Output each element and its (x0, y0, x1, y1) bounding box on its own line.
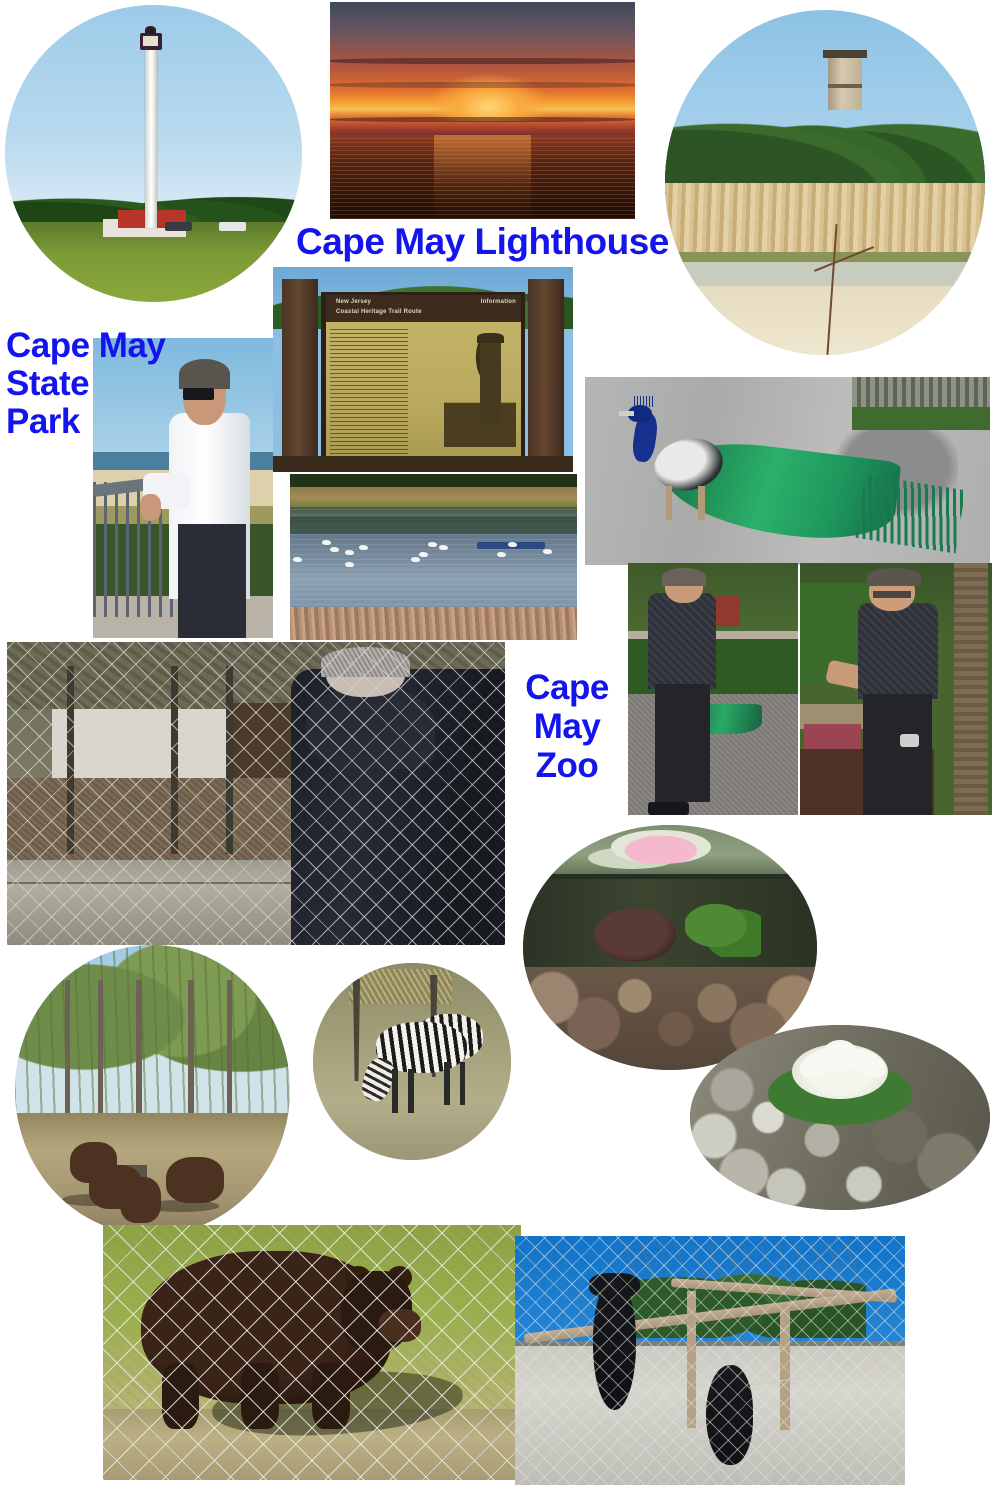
pink-lily-flower (611, 830, 711, 864)
sign-text-line1: New Jersey (336, 299, 371, 305)
swan (543, 549, 552, 554)
mesh-overlay (515, 1236, 905, 1485)
man-pointing-photo (800, 563, 992, 815)
zebra-leg (392, 1069, 398, 1112)
sun-glow (428, 74, 550, 122)
label-cape-may-state-park: Cape May State Park (6, 327, 165, 440)
swan (411, 557, 420, 562)
label-cape-may-lighthouse: Cape May Lighthouse (296, 222, 669, 262)
aquatic-plant (685, 894, 761, 958)
foreground-reeds (290, 607, 577, 640)
parked-car (219, 222, 246, 231)
heritage-trail-sign-photo: New Jersey Coastal Heritage Trail Route … (273, 267, 573, 472)
swan (345, 550, 354, 555)
swan (322, 540, 331, 545)
swan (359, 545, 368, 550)
cloud-band (330, 58, 635, 63)
zebra-leg (444, 1062, 450, 1105)
swan (345, 562, 354, 567)
lighthouse-tower (145, 44, 157, 228)
swan (497, 552, 506, 557)
bare-trees-layer (15, 945, 290, 1125)
bison (120, 1177, 161, 1223)
tree-trunk (136, 980, 142, 1131)
tree-trunk (65, 980, 71, 1131)
bison-herd-photo (15, 945, 290, 1235)
person-hand (140, 494, 162, 521)
sign-text-information: Information (481, 299, 516, 305)
cape-may-lighthouse-photo (5, 5, 302, 302)
tree-trunk (954, 563, 989, 815)
peacock-leg (698, 486, 704, 520)
gibbons-photo (515, 1236, 905, 1485)
sign-illustration-tower (480, 337, 501, 423)
peacock-leg (666, 486, 672, 520)
reed-band (290, 487, 577, 509)
peacock-beak (619, 411, 633, 417)
chain-link-mesh (103, 1225, 521, 1480)
sand-layer (665, 286, 985, 355)
person-shirt (858, 603, 939, 699)
tree-trunk (227, 980, 233, 1131)
water-lily-pond-photo (690, 1025, 990, 1210)
bison (166, 1157, 224, 1203)
man-watching-peacock-photo (628, 563, 798, 815)
person-hair (179, 359, 229, 389)
sun-reflection (434, 135, 532, 219)
swan (330, 547, 339, 552)
peacock-crest (634, 396, 654, 407)
person-pants (655, 684, 709, 802)
lighthouse-lens (143, 36, 158, 46)
swan (508, 542, 517, 547)
swan (419, 552, 428, 557)
weed-mat (290, 517, 577, 534)
zebra-leg (408, 1069, 414, 1112)
person-shirt (648, 593, 716, 689)
cloud-band (330, 82, 635, 87)
photo-collage: New Jersey Coastal Heritage Trail Route … (0, 0, 1000, 1500)
person-hair (867, 568, 921, 586)
tower-railing (823, 50, 866, 58)
pond-with-swans-photo (290, 474, 577, 640)
sign-post-right (528, 279, 564, 472)
person-hair (662, 568, 706, 586)
tower-slit (828, 84, 862, 88)
sign-illustration-tower-cap (477, 333, 504, 343)
person-shoe (648, 802, 689, 815)
label-cape-may-zoo: Cape May Zoo (512, 668, 622, 786)
eyeglasses (873, 591, 911, 599)
swan (293, 557, 302, 562)
swan (428, 542, 437, 547)
zebra-leg (460, 1062, 466, 1105)
person-pants (863, 694, 932, 815)
tree-trunk (188, 980, 194, 1131)
zebras-photo (313, 963, 511, 1160)
wwii-lookout-tower-photo (665, 10, 985, 355)
sign-body-text (330, 329, 408, 456)
person-pants (178, 524, 246, 638)
sign-post-left (282, 279, 318, 472)
parked-car (165, 222, 192, 231)
treeline-layer (665, 93, 985, 197)
man-at-animal-enclosure-photo (7, 642, 505, 945)
sign-text-line2: Coastal Heritage Trail Route (336, 309, 422, 315)
hedge-layer (852, 407, 990, 430)
wristwatch (900, 734, 919, 747)
tree-trunk (98, 980, 104, 1131)
brown-bear-photo (103, 1225, 521, 1480)
chain-link-mesh (7, 642, 505, 945)
turtle (594, 908, 676, 962)
lighthouse-cap (145, 26, 156, 34)
ocean-sunset-photo (330, 2, 635, 219)
peacock-on-path-photo (585, 377, 990, 565)
ground-strip (273, 456, 573, 472)
sunglasses (183, 388, 214, 400)
